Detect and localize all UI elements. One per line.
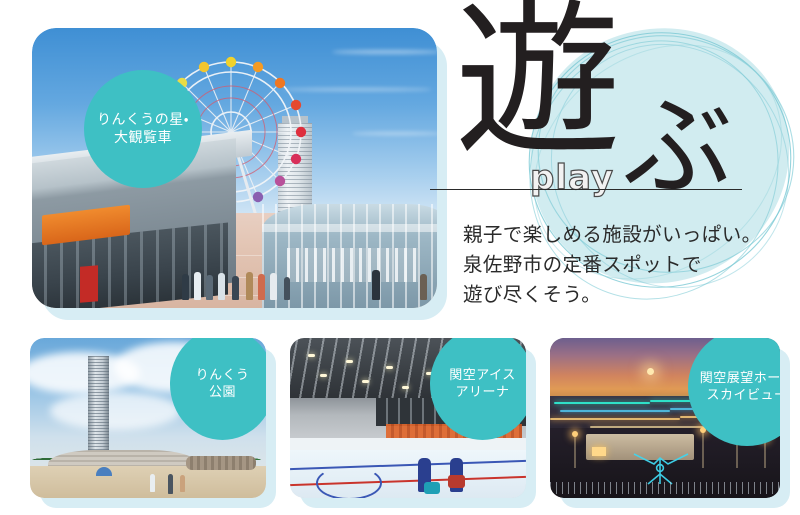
lede-paragraph: 親子で楽しめる施設がいっぱい。 泉佐野市の定番スポットで 遊び尽くそう。 (463, 220, 793, 311)
lede-line-2: 泉佐野市の定番スポットで (463, 250, 793, 280)
faceoff-circle (316, 466, 382, 498)
badge-rinku-ferris-wheel[interactable]: りんくうの星・ 大観覧車 (84, 70, 202, 188)
person (232, 276, 239, 300)
person (270, 273, 277, 300)
rotunda-band (262, 224, 437, 232)
illuminated-sculpture (628, 450, 692, 486)
shop-sign-board (80, 265, 98, 303)
person (420, 274, 427, 300)
thumb-card-sky-view[interactable]: 関空展望ホール スカイビュー (550, 338, 780, 498)
parasol (96, 467, 112, 476)
person (218, 273, 225, 300)
person (194, 272, 201, 300)
person (372, 270, 380, 300)
badge-line-2: スカイビュー (706, 387, 780, 404)
person (258, 274, 265, 300)
badge-line-1: りんくうの星・ (97, 111, 189, 129)
badge-line-1: 関空展望ホール (700, 370, 780, 387)
marble-beach (30, 466, 266, 498)
badge-line-2: 大観覧車 (114, 129, 172, 147)
person (206, 275, 213, 300)
mascot-skater (424, 482, 440, 494)
rock-bank (186, 456, 256, 470)
person (182, 274, 189, 300)
light-pole (702, 430, 704, 468)
sun-glow (647, 368, 654, 375)
page-title-kana: ぶ (623, 92, 733, 202)
perimeter-fence (550, 482, 780, 494)
mascot-skater (448, 475, 465, 488)
badge-line-2: 公園 (209, 384, 236, 401)
person (284, 277, 290, 300)
light-pole (574, 434, 576, 468)
cloud (50, 392, 180, 430)
lede-line-1: 親子で楽しめる施設がいっぱい。 (463, 220, 793, 250)
person (150, 474, 155, 492)
person (168, 474, 173, 494)
badge-line-1: りんくう (196, 367, 250, 384)
page-title-romaji: play (530, 158, 614, 198)
title-block: 遊 ぶ play (455, 8, 800, 208)
outdoor-chairs (287, 248, 419, 282)
lede-line-3: 遊び尽くそう。 (463, 280, 793, 310)
thumb-card-ice-arena[interactable]: 関空アイス アリーナ (290, 338, 526, 498)
page-title-kanji: 遊 (455, 0, 621, 166)
badge-line-1: 関空アイス (449, 367, 515, 384)
person (246, 272, 253, 300)
hero-photo (32, 28, 437, 308)
person (180, 475, 185, 492)
hero-photo-card[interactable]: りんくうの星・ 大観覧車 (32, 28, 437, 308)
cloud-streak (352, 132, 437, 135)
play-section: りんくうの星・ 大観覧車 遊 ぶ play 親子で楽しめる施設がいっぱい。 泉佐… (0, 0, 800, 515)
badge-line-2: アリーナ (455, 384, 509, 401)
title-divider (430, 189, 742, 190)
cloud-streak (332, 50, 437, 54)
person (338, 273, 345, 300)
thumb-card-rinku-park[interactable]: りんくう 公園 (30, 338, 266, 498)
